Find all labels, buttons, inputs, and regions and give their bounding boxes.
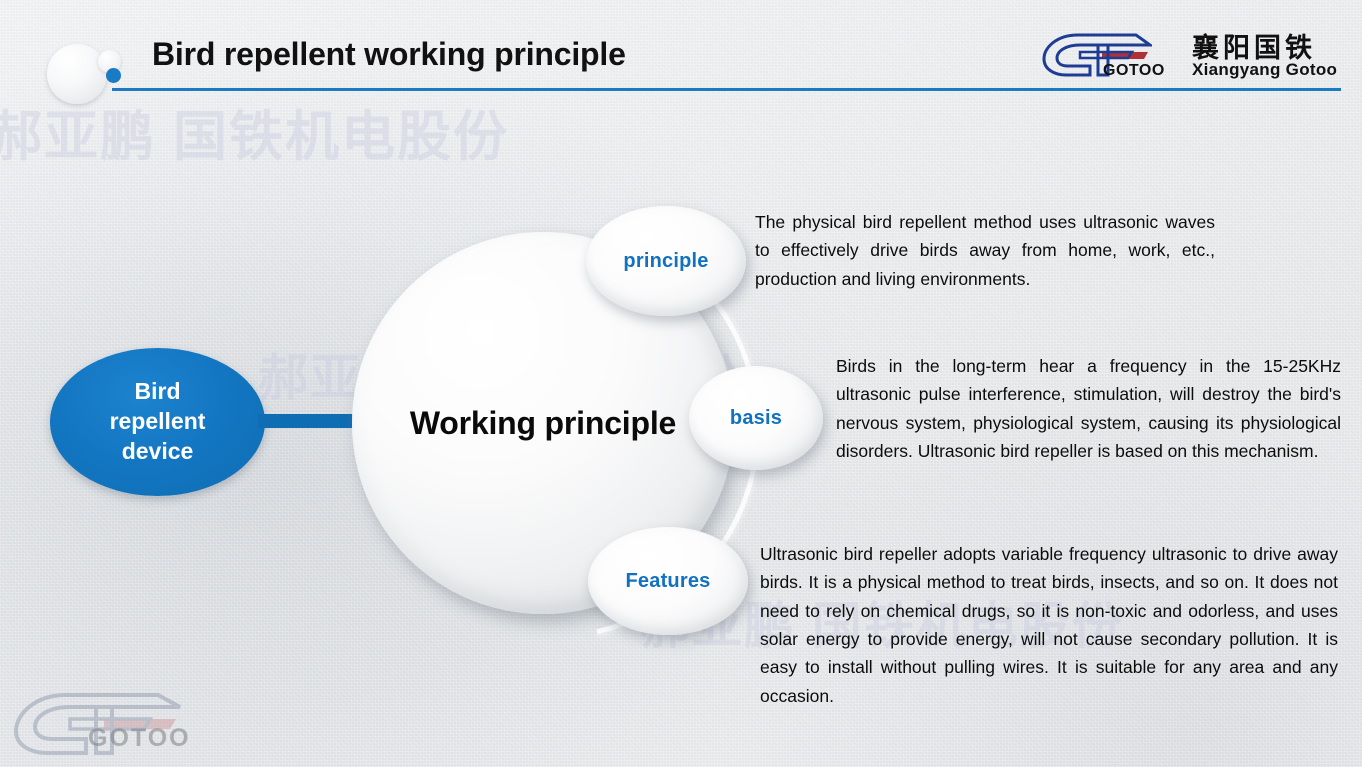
page-title: Bird repellent working principle [152, 36, 626, 73]
node-bird-repellent-device-label: Bird repellent device [110, 377, 206, 467]
paragraph-principle: The physical bird repellent method uses … [755, 208, 1215, 293]
node-principle-label: principle [623, 250, 708, 273]
logo-english-name: Xiangyang Gotoo [1192, 60, 1337, 80]
company-logo: GOTOO 襄阳国铁 Xiangyang Gotoo [1040, 26, 1340, 84]
decorative-circle-large [47, 44, 107, 104]
node-basis-label: basis [730, 407, 782, 430]
slide-canvas: 郝亚鹏 国铁机电股份 郝亚鹏 国铁机电股份 郝亚鹏 国铁机电股份 Bird re… [0, 0, 1362, 767]
logo-gotoo-text: GOTOO [1103, 62, 1165, 80]
node-basis[interactable]: basis [689, 366, 823, 470]
node-principle[interactable]: principle [586, 206, 746, 316]
paragraph-features: Ultrasonic bird repeller adopts variable… [760, 540, 1338, 710]
node-bird-repellent-device[interactable]: Bird repellent device [50, 348, 265, 496]
decorative-dot-icon [106, 68, 121, 83]
footer-logo-text: GOTOO [88, 724, 191, 753]
paragraph-basis: Birds in the long-term hear a frequency … [836, 352, 1341, 465]
node-features[interactable]: Features [588, 527, 748, 635]
node-features-label: Features [626, 570, 711, 593]
header-divider [112, 88, 1341, 91]
node-working-principle-label: Working principle [410, 405, 676, 442]
